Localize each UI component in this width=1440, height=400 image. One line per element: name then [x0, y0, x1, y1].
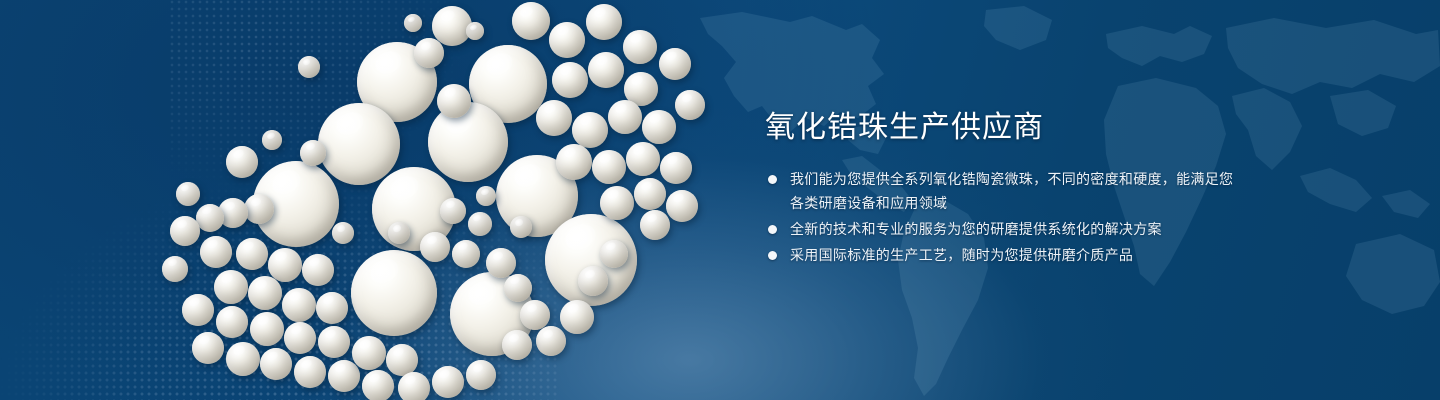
banner-headline: 氧化锆珠生产供应商 — [765, 108, 1235, 148]
bullet-text: 我们能为您提供全系列氧化锆陶瓷微珠，不同的密度和硬度，能满足您各类研磨设备和应用… — [790, 167, 1235, 215]
list-item: 采用国际标准的生产工艺，随时为您提供研磨介质产品 — [765, 243, 1235, 267]
list-item: 我们能为您提供全系列氧化锆陶瓷微珠，不同的密度和硬度，能满足您各类研磨设备和应用… — [765, 167, 1235, 215]
halftone-pattern-bottom — [0, 70, 560, 400]
bullet-text: 采用国际标准的生产工艺，随时为您提供研磨介质产品 — [790, 243, 1235, 267]
banner-copy: 氧化锆珠生产供应商 我们能为您提供全系列氧化锆陶瓷微珠，不同的密度和硬度，能满足… — [765, 108, 1235, 269]
bullet-dot-icon — [768, 175, 777, 184]
list-item: 全新的技术和专业的服务为您的研磨提供系统化的解决方案 — [765, 217, 1235, 241]
zirconia-beads-product-image — [0, 0, 720, 400]
banner-bullet-list: 我们能为您提供全系列氧化锆陶瓷微珠，不同的密度和硬度，能满足您各类研磨设备和应用… — [765, 167, 1235, 267]
bullet-text: 全新的技术和专业的服务为您的研磨提供系统化的解决方案 — [790, 217, 1235, 241]
bullet-dot-icon — [768, 251, 777, 260]
bullet-dot-icon — [768, 225, 777, 234]
hero-banner: 氧化锆珠生产供应商 我们能为您提供全系列氧化锆陶瓷微珠，不同的密度和硬度，能满足… — [0, 0, 1440, 400]
halftone-pattern-top — [170, 0, 590, 230]
